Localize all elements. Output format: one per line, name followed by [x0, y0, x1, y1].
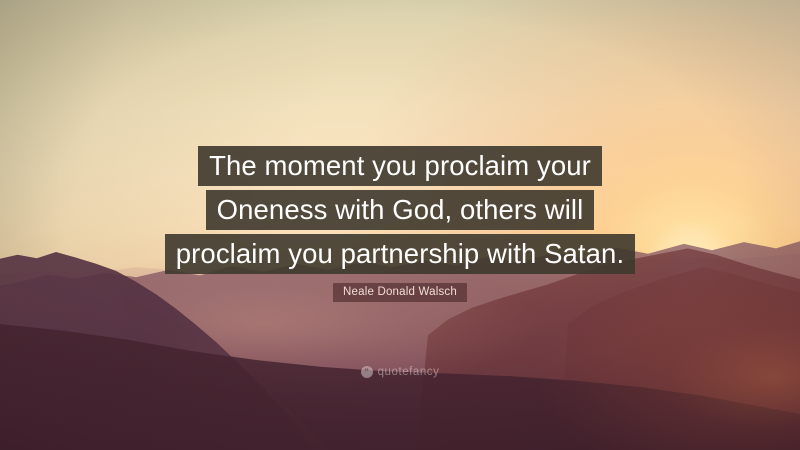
quote-text-block: The moment you proclaim your Oneness wit… — [0, 146, 800, 278]
quote-badge-glyph: “ — [364, 367, 369, 376]
watermark-brand: quotefancy — [378, 366, 440, 378]
quote-line: proclaim you partnership with Satan. — [165, 234, 635, 274]
quote-line: Oneness with God, others will — [206, 190, 595, 230]
author-attribution: Neale Donald Walsch — [0, 283, 800, 302]
quote-poster: The moment you proclaim your Oneness wit… — [0, 0, 800, 450]
quote-badge-icon: “ — [361, 366, 373, 378]
quote-line: The moment you proclaim your — [198, 146, 602, 186]
watermark: “ quotefancy — [0, 366, 800, 378]
author-name: Neale Donald Walsch — [333, 283, 467, 302]
